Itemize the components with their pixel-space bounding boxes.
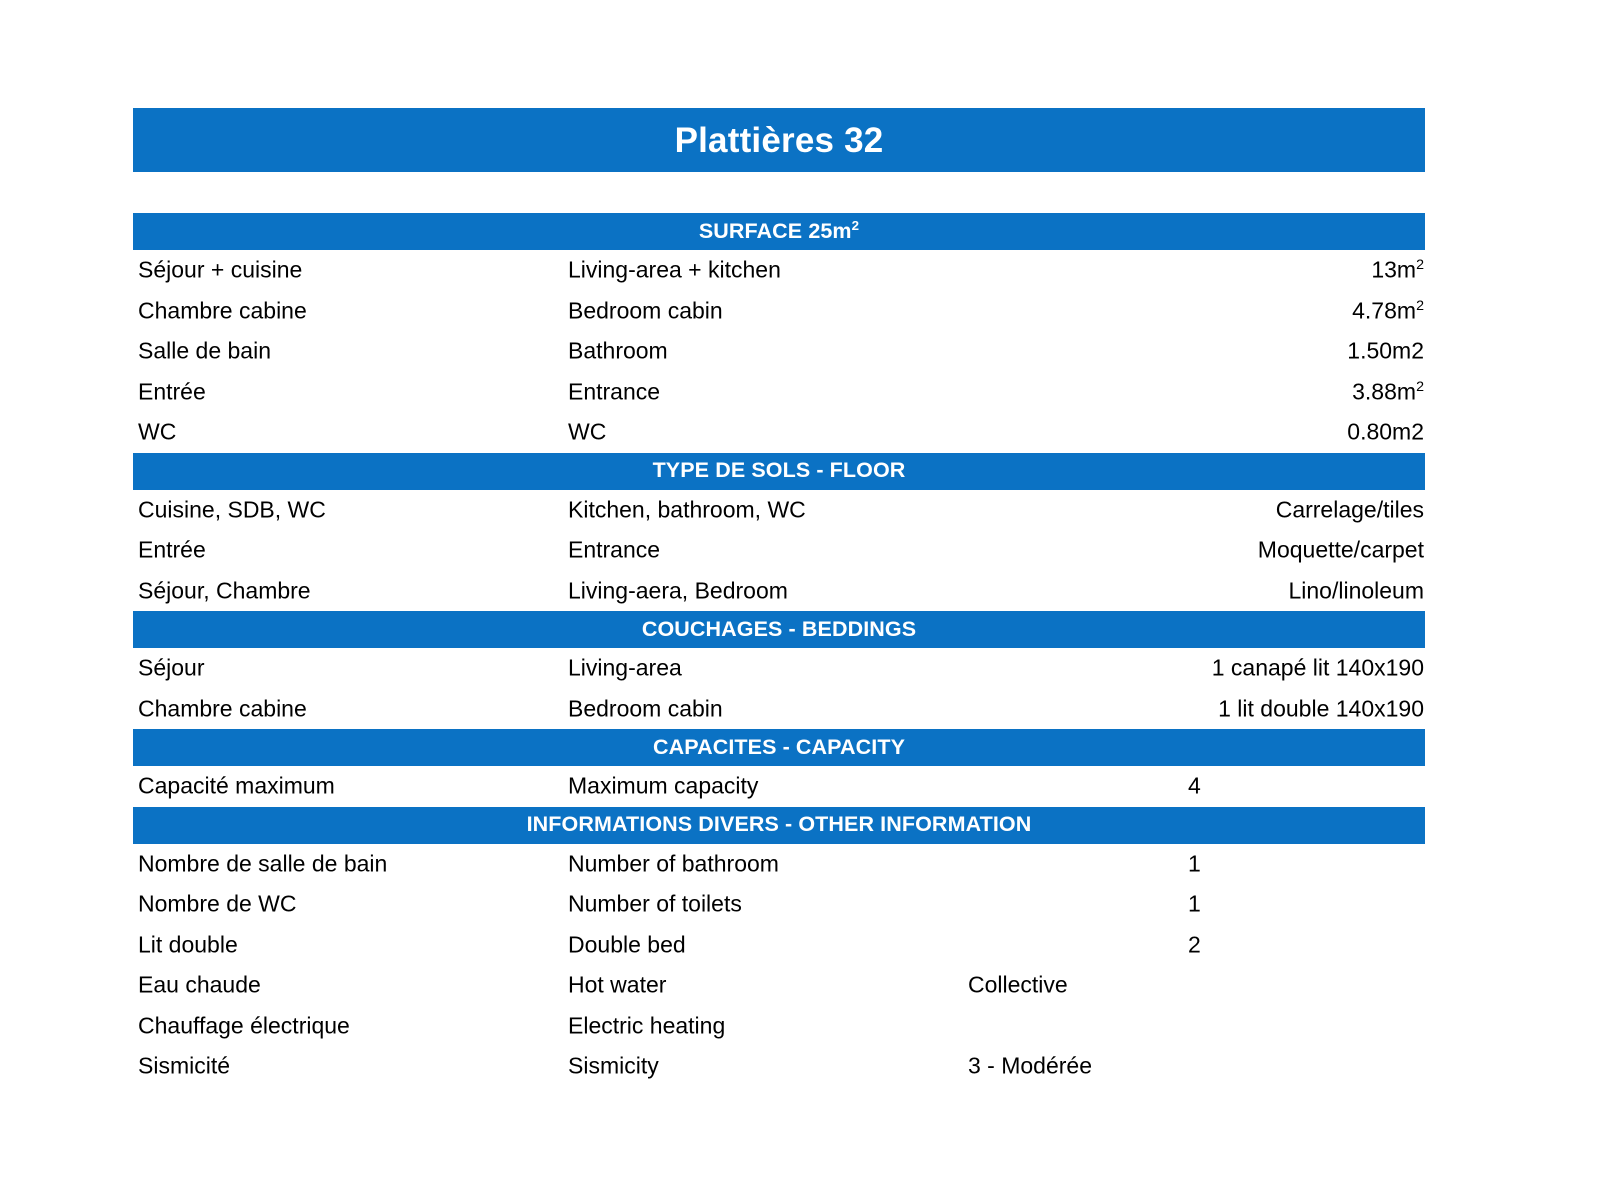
row-label-en: Bedroom cabin (568, 297, 723, 324)
table-row: Séjour + cuisineLiving-area + kitchen13m… (133, 250, 1425, 291)
row-label-en: Double bed (568, 931, 686, 958)
row-value: Collective (968, 972, 1068, 999)
row-label-en: Number of bathroom (568, 850, 779, 877)
row-label-en: Number of toilets (568, 891, 742, 918)
table-row: EntréeEntranceMoquette/carpet (133, 530, 1425, 571)
rows-floor: Cuisine, SDB, WCKitchen, bathroom, WCCar… (133, 490, 1425, 612)
row-value: 4 (1188, 773, 1201, 800)
row-value: 1 (1188, 891, 1201, 918)
table-row: Séjour, ChambreLiving-aera, BedroomLino/… (133, 571, 1425, 612)
rows-surface: Séjour + cuisineLiving-area + kitchen13m… (133, 250, 1425, 453)
section-header-floor: TYPE DE SOLS - FLOOR (133, 453, 1425, 490)
table-row: Eau chaudeHot waterCollective (133, 965, 1425, 1006)
row-label-fr: Chambre cabine (138, 297, 307, 324)
table-row: Chambre cabineBedroom cabin4.78m2 (133, 291, 1425, 332)
table-row: Lit doubleDouble bed2 (133, 925, 1425, 966)
row-value: 3 - Modérée (968, 1053, 1092, 1080)
section-title-label: TYPE DE SOLS - FLOOR (653, 460, 906, 482)
row-label-fr: WC (138, 419, 176, 446)
property-info-sheet: Plattières 32 SURFACE 25m2Séjour + cuisi… (133, 108, 1425, 1087)
row-label-en: Living-aera, Bedroom (568, 577, 788, 604)
row-label-fr: Sismicité (138, 1053, 230, 1080)
row-label-en: Entrance (568, 537, 660, 564)
section-title-label: INFORMATIONS DIVERS - OTHER INFORMATION (527, 814, 1032, 836)
row-value: 2 (1188, 931, 1201, 958)
row-label-en: Maximum capacity (568, 773, 758, 800)
superscript-exponent: 2 (1416, 379, 1424, 395)
section-header-surface: SURFACE 25m2 (133, 213, 1425, 250)
row-value: 13m2 (1371, 257, 1424, 284)
row-label-fr: Chambre cabine (138, 695, 307, 722)
row-label-en: Entrance (568, 378, 660, 405)
row-label-fr: Entrée (138, 378, 206, 405)
section-title-label: COUCHAGES - BEDDINGS (642, 619, 916, 641)
row-value: 4.78m2 (1352, 297, 1424, 324)
row-value: 1 canapé lit 140x190 (1212, 655, 1424, 682)
section-header-beddings: COUCHAGES - BEDDINGS (133, 611, 1425, 648)
table-row: Salle de bainBathroom1.50m2 (133, 331, 1425, 372)
page-title: Plattières 32 (675, 123, 884, 158)
row-label-fr: Séjour, Chambre (138, 577, 311, 604)
row-label-fr: Nombre de salle de bain (138, 850, 387, 877)
row-label-fr: Nombre de WC (138, 891, 296, 918)
table-row: SéjourLiving-area1 canapé lit 140x190 (133, 648, 1425, 689)
superscript-exponent: 2 (1416, 257, 1424, 273)
section-title-label: SURFACE 25m2 (699, 221, 859, 243)
document-title-banner: Plattières 32 (133, 108, 1425, 172)
row-label-en: WC (568, 419, 606, 446)
row-value: Moquette/carpet (1258, 537, 1424, 564)
row-value: 3.88m2 (1352, 378, 1424, 405)
table-row: Nombre de WCNumber of toilets1 (133, 884, 1425, 925)
row-label-en: Electric heating (568, 1012, 725, 1039)
table-row: SismicitéSismicity3 - Modérée (133, 1046, 1425, 1087)
superscript-exponent: 2 (1416, 298, 1424, 314)
section-header-other: INFORMATIONS DIVERS - OTHER INFORMATION (133, 807, 1425, 844)
row-label-en: Living-area (568, 655, 682, 682)
row-label-fr: Salle de bain (138, 338, 271, 365)
rows-capacity: Capacité maximumMaximum capacity4 (133, 766, 1425, 807)
table-row: Nombre de salle de bainNumber of bathroo… (133, 844, 1425, 885)
table-row: WCWC0.80m2 (133, 412, 1425, 453)
row-value: 1 lit double 140x190 (1218, 695, 1424, 722)
table-row: Chauffage électriqueElectric heating (133, 1006, 1425, 1047)
row-label-en: Bedroom cabin (568, 695, 723, 722)
table-row: Chambre cabineBedroom cabin1 lit double … (133, 689, 1425, 730)
page-canvas: Plattières 32 SURFACE 25m2Séjour + cuisi… (0, 0, 1600, 1200)
table-row: EntréeEntrance3.88m2 (133, 372, 1425, 413)
section-title-label: CAPACITES - CAPACITY (653, 737, 905, 759)
section-header-capacity: CAPACITES - CAPACITY (133, 729, 1425, 766)
row-value: 1.50m2 (1347, 338, 1424, 365)
row-label-en: Living-area + kitchen (568, 257, 781, 284)
row-label-fr: Lit double (138, 931, 238, 958)
sections-container: SURFACE 25m2Séjour + cuisineLiving-area … (133, 213, 1425, 1087)
table-row: Capacité maximumMaximum capacity4 (133, 766, 1425, 807)
superscript-exponent: 2 (852, 218, 860, 233)
row-label-fr: Cuisine, SDB, WC (138, 496, 326, 523)
row-value: 1 (1188, 850, 1201, 877)
row-label-fr: Séjour (138, 655, 204, 682)
row-value: Carrelage/tiles (1276, 496, 1424, 523)
table-row: Cuisine, SDB, WCKitchen, bathroom, WCCar… (133, 490, 1425, 531)
row-label-fr: Séjour + cuisine (138, 257, 302, 284)
row-label-en: Bathroom (568, 338, 668, 365)
row-value: 0.80m2 (1347, 419, 1424, 446)
row-label-en: Hot water (568, 972, 666, 999)
row-value: Lino/linoleum (1288, 577, 1424, 604)
row-label-fr: Entrée (138, 537, 206, 564)
title-spacer (133, 172, 1425, 213)
row-label-fr: Chauffage électrique (138, 1012, 350, 1039)
row-label-en: Sismicity (568, 1053, 659, 1080)
row-label-fr: Capacité maximum (138, 773, 335, 800)
row-label-fr: Eau chaude (138, 972, 261, 999)
rows-beddings: SéjourLiving-area1 canapé lit 140x190Cha… (133, 648, 1425, 729)
row-label-en: Kitchen, bathroom, WC (568, 496, 806, 523)
rows-other: Nombre de salle de bainNumber of bathroo… (133, 844, 1425, 1087)
